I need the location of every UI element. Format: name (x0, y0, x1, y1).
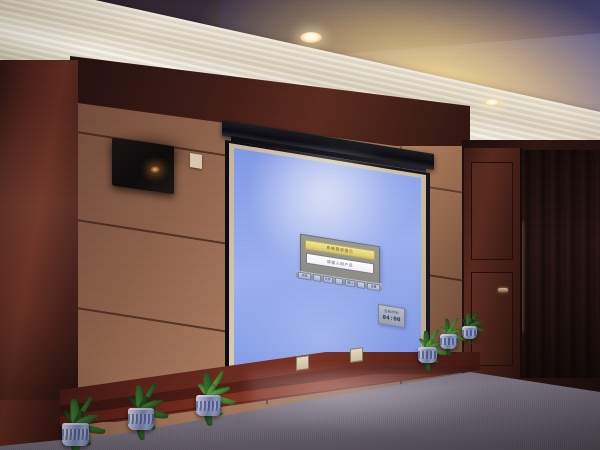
downlight-1 (300, 32, 322, 43)
plant-pot-rim (440, 334, 457, 336)
taskbar-item-3[interactable] (335, 277, 343, 285)
taskbar-item-5[interactable] (357, 280, 365, 288)
plant-pot-rim (128, 408, 154, 410)
plant-pot-rim (462, 326, 477, 328)
floor-light-pool (250, 372, 480, 432)
curtain-shading (518, 150, 600, 378)
plant-pot (196, 395, 221, 416)
wall-accent-light (150, 166, 160, 173)
taskbar-item-1[interactable] (313, 273, 321, 281)
ceiling-speaker-icon (112, 138, 174, 195)
plant-pot-rim (62, 423, 89, 425)
floor-outlet-left[interactable] (296, 355, 309, 371)
plant-pot (62, 423, 89, 446)
taskbar-item-2[interactable]: 文件 (323, 275, 334, 284)
plant-pot (440, 334, 457, 349)
plant-pot-rim (418, 347, 437, 349)
clock-time: 04:00 (382, 314, 400, 324)
plant-pot (128, 408, 154, 430)
room-photo-scene: 系统登录提示 请输入用户名 开始文件窗口设置 当前时间 04:00 (0, 0, 600, 450)
door-handle-icon[interactable] (498, 288, 508, 292)
wall-plate-upper[interactable] (190, 153, 202, 169)
wood-column-highlight (0, 100, 78, 400)
plant-pot (418, 347, 437, 363)
plant-pot (462, 326, 477, 339)
entry-door[interactable] (464, 148, 522, 378)
floor-outlet-right[interactable] (350, 347, 363, 363)
clock-widget: 当前时间 04:00 (378, 304, 405, 328)
door-panel-upper (471, 162, 513, 260)
plant-pot-rim (196, 395, 221, 397)
taskbar-item-4[interactable]: 窗口 (345, 278, 356, 287)
